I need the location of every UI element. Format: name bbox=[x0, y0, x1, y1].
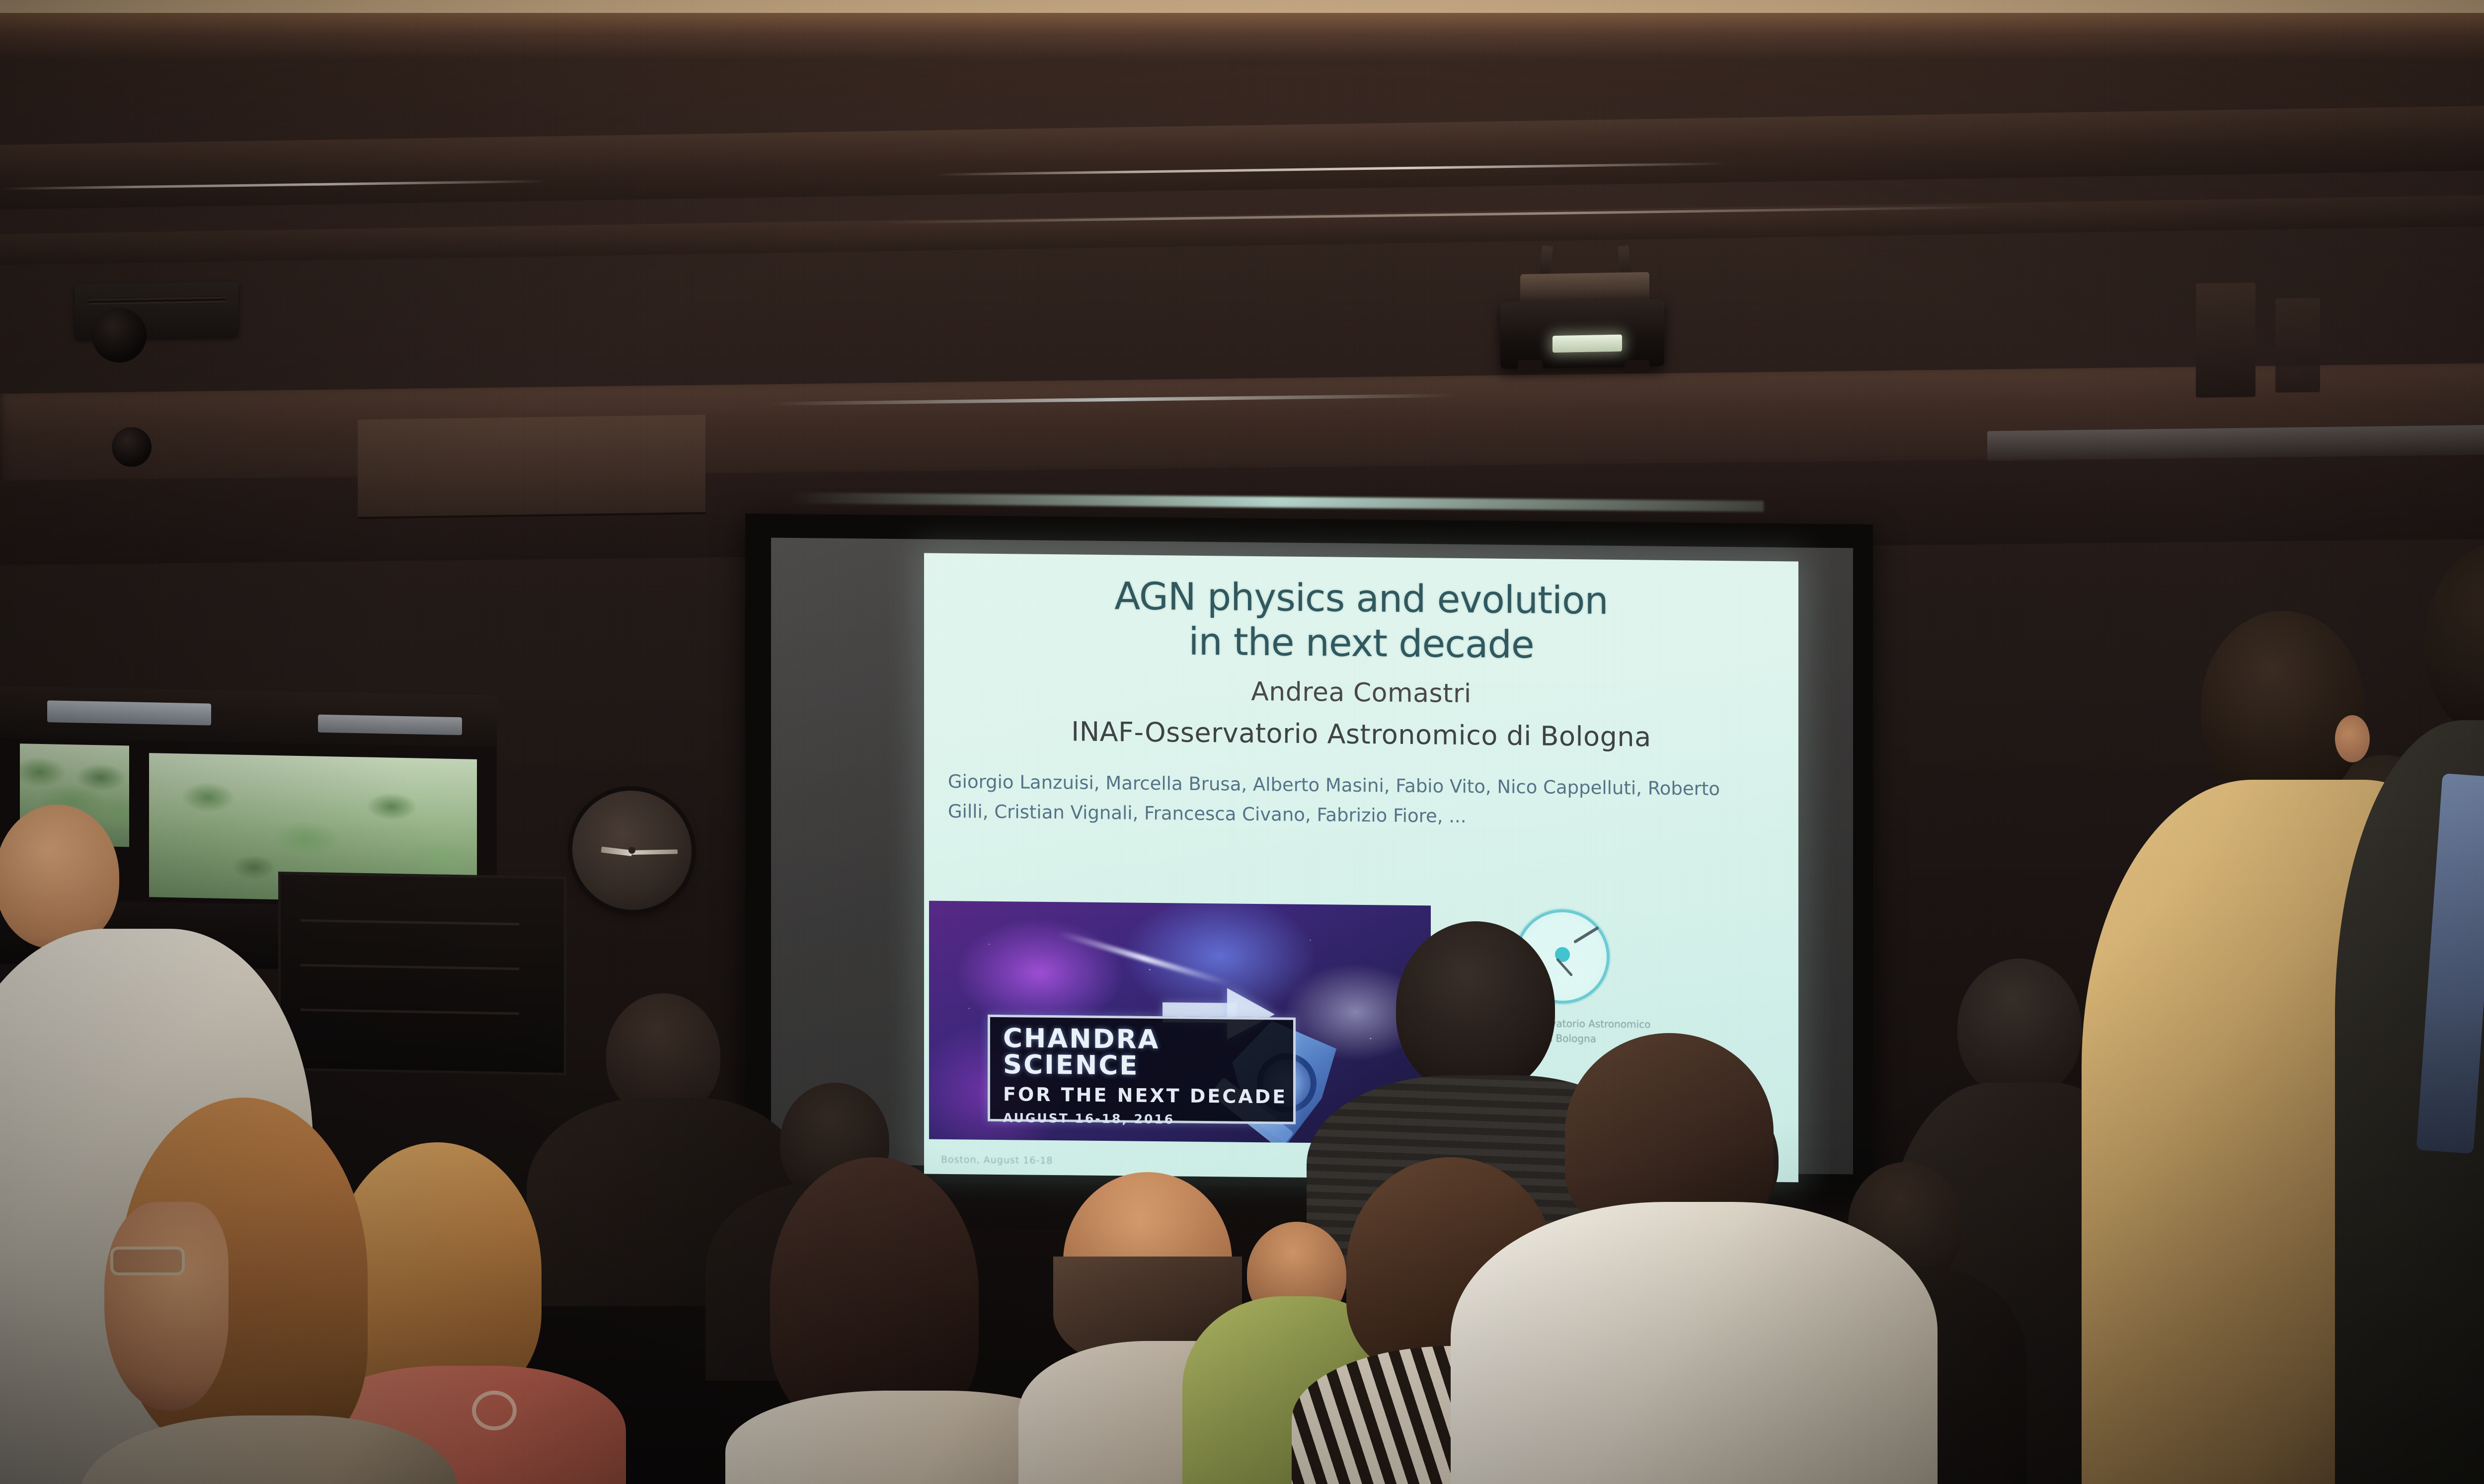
projector-foot-right bbox=[1625, 360, 1649, 373]
ceiling-speaker bbox=[92, 308, 147, 363]
ceiling-duct-left bbox=[358, 415, 705, 519]
projector-body bbox=[1500, 299, 1664, 369]
head bbox=[2424, 541, 2484, 740]
clock-hour-hand bbox=[601, 846, 632, 856]
slide-coauthors: Giorgio Lanzuisi, Marcella Brusa, Albert… bbox=[948, 767, 1723, 834]
slide-author: Andrea Comastri bbox=[924, 674, 1798, 712]
window-top-frame bbox=[0, 685, 497, 747]
woman-with-glasses bbox=[99, 1098, 457, 1484]
slide-title-line-1: AGN physics and evolution bbox=[924, 572, 1798, 625]
hair bbox=[770, 1157, 979, 1425]
window-light-strip-b bbox=[318, 715, 462, 736]
torso bbox=[1451, 1202, 1938, 1484]
slide-title-line-2: in the next decade bbox=[924, 616, 1798, 669]
projector-lens-icon bbox=[1552, 335, 1622, 353]
head bbox=[1957, 959, 2082, 1098]
head bbox=[2201, 611, 2365, 805]
slide-title: AGN physics and evolution in the next de… bbox=[924, 553, 1798, 669]
clock-minute-hand bbox=[632, 849, 678, 855]
blouse-tie bbox=[472, 1391, 517, 1430]
ceiling-fixture-right-a bbox=[2196, 283, 2255, 397]
banner-text-plate: CHANDRA SCIENCE FOR THE NEXT DECADE AUGU… bbox=[988, 1015, 1296, 1124]
audience-man-white-shirt-center bbox=[1471, 1033, 1918, 1484]
ceiling-sensor bbox=[112, 427, 152, 467]
ceiling-fixture-right-b bbox=[2275, 297, 2320, 392]
head bbox=[0, 805, 119, 949]
banner-line-1: CHANDRA SCIENCE bbox=[1003, 1025, 1293, 1081]
glasses-icon bbox=[110, 1247, 185, 1275]
window-light-strip-a bbox=[47, 700, 211, 725]
face bbox=[104, 1202, 229, 1410]
banner-line-3: AUGUST 16-18, 2016 bbox=[1003, 1112, 1293, 1127]
wall-band-highlight bbox=[770, 394, 1456, 406]
slide-affiliation: INAF-Osservatorio Astronomico di Bologna bbox=[924, 715, 1798, 754]
ceiling-projector[interactable] bbox=[1471, 246, 1729, 410]
conference-room-photo: AGN physics and evolution in the next de… bbox=[0, 0, 2484, 1484]
person-with-backpack bbox=[2365, 541, 2484, 1484]
torso bbox=[79, 1415, 457, 1484]
projector-foot-left bbox=[1518, 360, 1543, 373]
clock-center-pin bbox=[628, 847, 635, 854]
banner-line-2: FOR THE NEXT DECADE bbox=[1003, 1085, 1293, 1107]
